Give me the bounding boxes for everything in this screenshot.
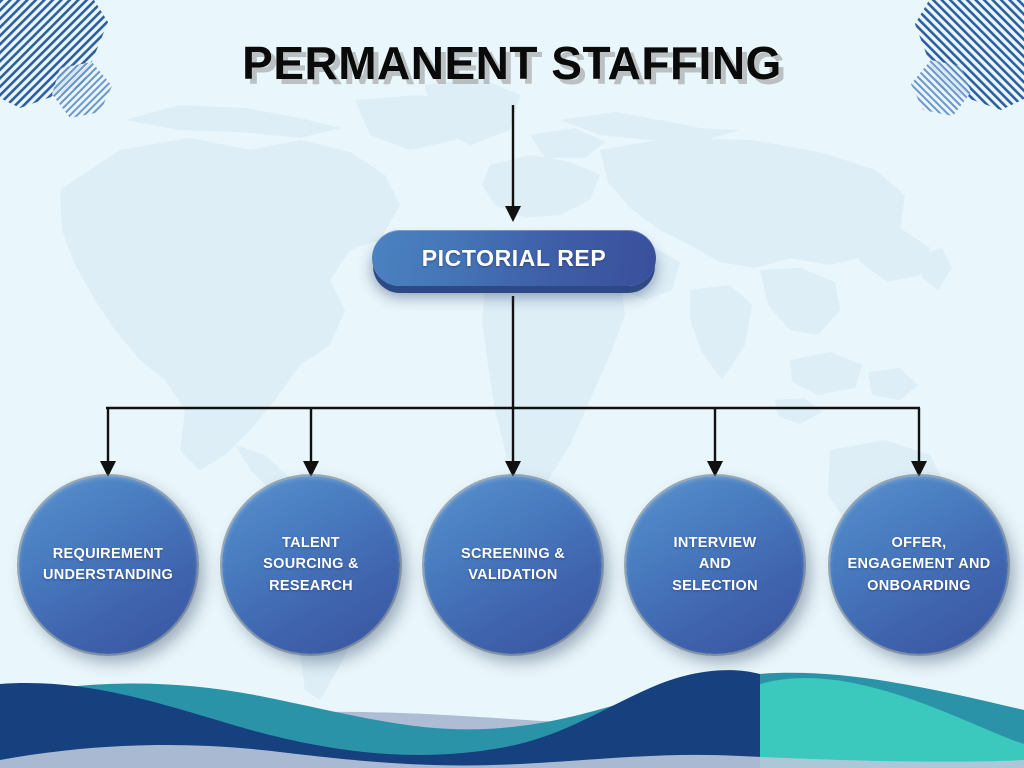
arrowhead-step-3	[505, 461, 521, 477]
process-step-circle-3[interactable]: SCREENING & VALIDATION	[424, 476, 602, 654]
process-step-label-5: OFFER, ENGAGEMENT AND ONBOARDING	[841, 533, 996, 596]
arrowhead-step-1	[100, 461, 116, 477]
process-step-circle-5[interactable]: OFFER, ENGAGEMENT AND ONBOARDING	[830, 476, 1008, 654]
process-step-circle-4[interactable]: INTERVIEW AND SELECTION	[626, 476, 804, 654]
arrowhead-step-4	[707, 461, 723, 477]
slide-canvas: PERMANENT STAFFING PICTORIAL REP	[0, 0, 1024, 768]
process-step-circle-2[interactable]: TALENT SOURCING & RESEARCH	[222, 476, 400, 654]
process-steps-row: REQUIREMENT UNDERSTANDING TALENT SOURCIN…	[0, 476, 1024, 656]
process-step-label-2: TALENT SOURCING & RESEARCH	[257, 533, 365, 596]
process-step-circle-1[interactable]: REQUIREMENT UNDERSTANDING	[19, 476, 197, 654]
process-step-label-4: INTERVIEW AND SELECTION	[666, 533, 764, 596]
arrowhead-step-5	[911, 461, 927, 477]
arrowhead-step-2	[303, 461, 319, 477]
process-step-label-3: SCREENING & VALIDATION	[455, 544, 571, 586]
root-node-pictorial-rep[interactable]: PICTORIAL REP	[372, 230, 656, 286]
root-node-label: PICTORIAL REP	[422, 245, 607, 272]
process-step-label-1: REQUIREMENT UNDERSTANDING	[37, 544, 179, 586]
arrowhead-to-root	[505, 206, 521, 222]
